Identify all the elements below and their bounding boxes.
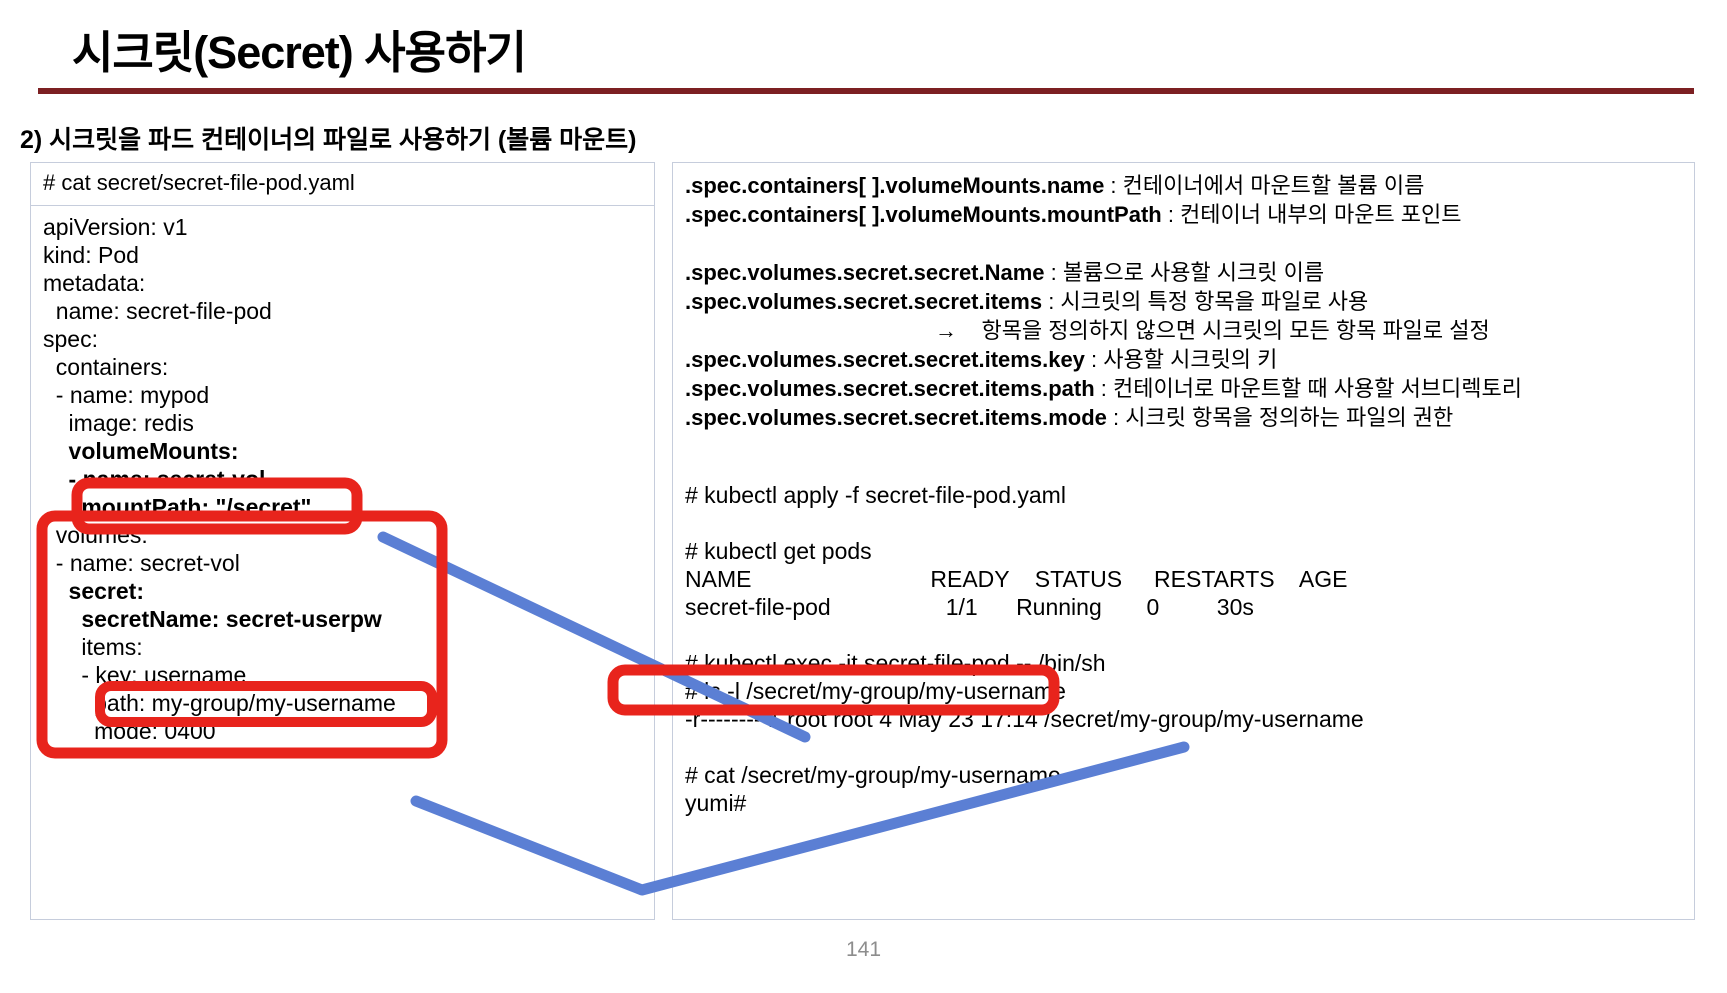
yaml-line: spec:	[43, 325, 396, 353]
yaml-line: mountPath: "/secret"	[43, 493, 396, 521]
yaml-line: - name: secret-vol	[43, 549, 396, 577]
console-line: # kubectl apply -f secret-file-pod.yaml	[685, 481, 1364, 509]
yaml-line: secret:	[43, 577, 396, 605]
page-title: 시크릿(Secret) 사용하기	[72, 16, 526, 81]
spec-and-console-panel: .spec.containers[ ].volumeMounts.name : …	[672, 162, 1695, 920]
spec-field-path: .spec.volumes.secret.secret.items.key	[685, 347, 1085, 372]
spec-field-path: .spec.containers[ ].volumeMounts.mountPa…	[685, 202, 1162, 227]
yaml-line: name: secret-file-pod	[43, 297, 396, 325]
console-line	[685, 733, 1364, 761]
spec-arrow-note: → 항목을 정의하지 않으면 시크릿의 모든 항목 파일로 설정	[685, 316, 1522, 345]
yaml-line: containers:	[43, 353, 396, 381]
yaml-line: kind: Pod	[43, 241, 396, 269]
yaml-line: secretName: secret-userpw	[43, 605, 396, 633]
console-line: -r-------- 1 root root 4 May 23 17:14 /s…	[685, 705, 1364, 733]
spec-field-description: : 시크릿 항목을 정의하는 파일의 권한	[1107, 405, 1453, 430]
yaml-line: path: my-group/my-username	[43, 689, 396, 717]
console-line: # kubectl exec -it secret-file-pod -- /b…	[685, 649, 1364, 677]
spec-entry: .spec.volumes.secret.secret.items.path :…	[685, 374, 1522, 403]
spec-field-path: .spec.containers[ ].volumeMounts.name	[685, 173, 1104, 198]
spec-field-path: .spec.volumes.secret.secret.items.mode	[685, 405, 1107, 430]
spec-field-description: : 컨테이너에서 마운트할 볼륨 이름	[1104, 173, 1424, 198]
yaml-panel: # cat secret/secret-file-pod.yaml apiVer…	[30, 162, 655, 920]
console-line: secret-file-pod 1/1 Running 0 30s	[685, 593, 1364, 621]
yaml-line: image: redis	[43, 409, 396, 437]
page-number: 141	[0, 938, 1727, 962]
yaml-line: apiVersion: v1	[43, 213, 396, 241]
spec-entry: .spec.volumes.secret.secret.items : 시크릿의…	[685, 287, 1522, 316]
console-line: # ls -l /secret/my-group/my-username	[685, 677, 1364, 705]
yaml-line: - name: mypod	[43, 381, 396, 409]
cat-command-text: # cat secret/secret-file-pod.yaml	[43, 170, 355, 196]
spec-field-description: : 시크릿의 특정 항목을 파일로 사용	[1042, 289, 1368, 314]
spec-entry: .spec.volumes.secret.secret.items.mode :…	[685, 403, 1522, 432]
spec-entry: .spec.volumes.secret.secret.items.key : …	[685, 345, 1522, 374]
yaml-line: items:	[43, 633, 396, 661]
spec-field-description: : 컨테이너 내부의 마운트 포인트	[1162, 202, 1462, 227]
console-output-block: # kubectl apply -f secret-file-pod.yaml …	[685, 481, 1364, 817]
yaml-line: volumes:	[43, 521, 396, 549]
spec-entry: .spec.containers[ ].volumeMounts.name : …	[685, 171, 1522, 200]
yaml-line: - name: secret-vol	[43, 465, 396, 493]
spec-field-path: .spec.volumes.secret.secret.items.path	[685, 376, 1095, 401]
spec-field-path: .spec.volumes.secret.secret.Name	[685, 260, 1045, 285]
yaml-line: volumeMounts:	[43, 437, 396, 465]
yaml-code-block: apiVersion: v1kind: Podmetadata: name: s…	[43, 213, 396, 745]
spec-field-description: : 사용할 시크릿의 키	[1085, 347, 1277, 372]
spec-entry: .spec.containers[ ].volumeMounts.mountPa…	[685, 200, 1522, 229]
console-line: # kubectl get pods	[685, 537, 1364, 565]
console-line: # cat /secret/my-group/my-username	[685, 761, 1364, 789]
spec-entry: .spec.volumes.secret.secret.Name : 볼륨으로 …	[685, 258, 1522, 287]
console-line	[685, 509, 1364, 537]
spec-field-list: .spec.containers[ ].volumeMounts.name : …	[685, 171, 1522, 432]
yaml-line: metadata:	[43, 269, 396, 297]
spec-field-path: .spec.volumes.secret.secret.items	[685, 289, 1042, 314]
spec-field-description: : 컨테이너로 마운트할 때 사용할 서브디렉토리	[1095, 376, 1522, 401]
yaml-line: mode: 0400	[43, 717, 396, 745]
yaml-line: - key: username	[43, 661, 396, 689]
spec-field-description: : 볼륨으로 사용할 시크릿 이름	[1045, 260, 1325, 285]
yaml-command-header: # cat secret/secret-file-pod.yaml	[31, 163, 654, 206]
section-subtitle: 2) 시크릿을 파드 컨테이너의 파일로 사용하기 (볼륨 마운트)	[20, 120, 637, 156]
title-divider	[38, 88, 1694, 94]
console-line: NAME READY STATUS RESTARTS AGE	[685, 565, 1364, 593]
console-line: yumi#	[685, 789, 1364, 817]
spec-entry	[685, 229, 1522, 258]
console-line	[685, 621, 1364, 649]
